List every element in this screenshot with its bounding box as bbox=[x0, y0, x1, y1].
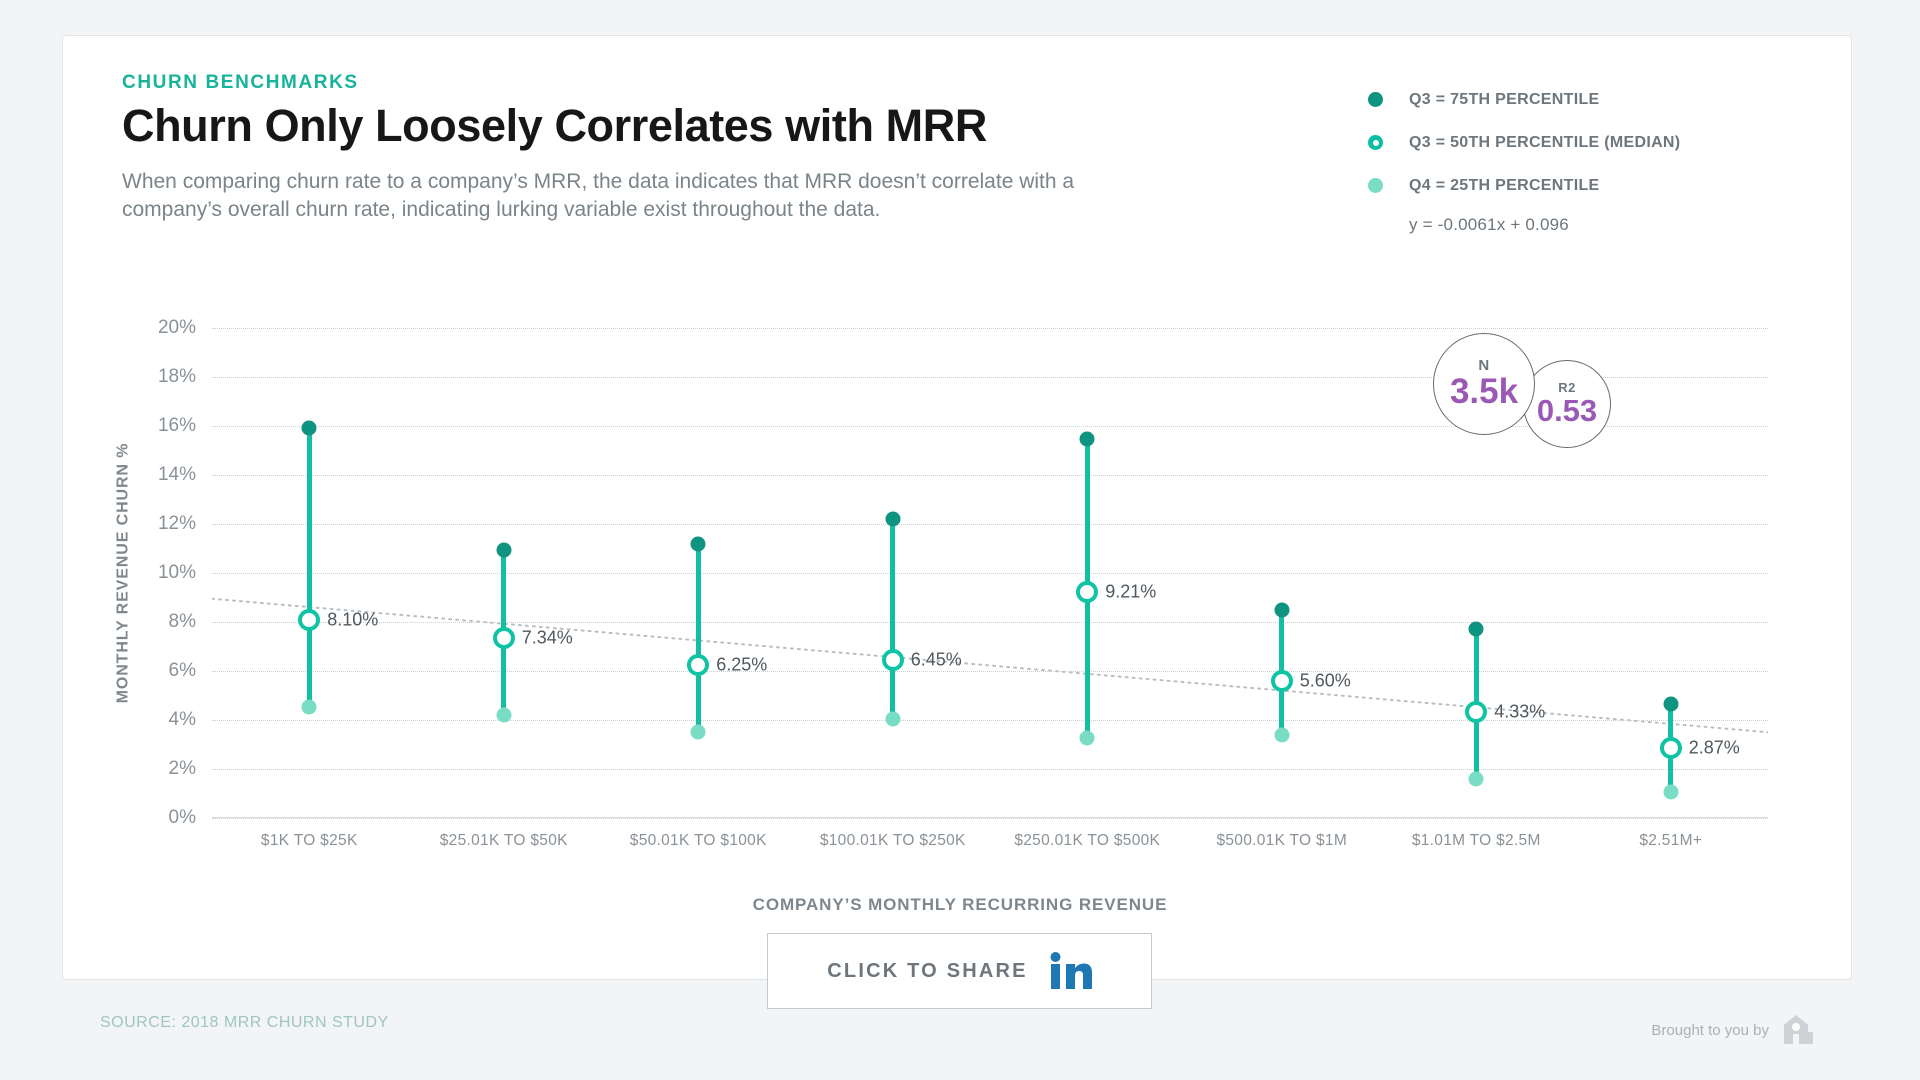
data-point-q1[interactable] bbox=[1663, 785, 1678, 800]
stat-bubble-n-value: 3.5k bbox=[1450, 374, 1518, 411]
data-point-median[interactable] bbox=[687, 654, 709, 676]
x-axis-tick-label: $25.01K TO $50K bbox=[440, 832, 568, 850]
stat-bubble-r2-value: 0.53 bbox=[1537, 395, 1597, 428]
y-axis-tick-label: 16% bbox=[116, 415, 196, 437]
data-point-median[interactable] bbox=[1465, 701, 1487, 723]
data-point-median-label: 6.25% bbox=[716, 654, 767, 675]
y-axis-tick-label: 6% bbox=[116, 660, 196, 682]
y-axis-tick-label: 10% bbox=[116, 562, 196, 584]
legend-marker-solid-light-icon bbox=[1368, 178, 1383, 193]
gridline bbox=[212, 475, 1768, 476]
x-axis-tick-label: $100.01K TO $250K bbox=[820, 832, 966, 850]
legend-item-median: Q3 = 50TH PERCENTILE (MEDIAN) bbox=[1368, 121, 1768, 164]
data-point-q3[interactable] bbox=[496, 542, 511, 557]
legend-item-q4-25: Q4 = 25TH PERCENTILE bbox=[1368, 164, 1768, 207]
x-axis-tick-label: $50.01K TO $100K bbox=[630, 832, 767, 850]
gridline bbox=[212, 622, 1768, 623]
data-point-median-label: 5.60% bbox=[1300, 670, 1351, 691]
y-axis-tick-label: 8% bbox=[116, 611, 196, 633]
data-point-median-label: 7.34% bbox=[522, 628, 573, 649]
share-button[interactable]: CLICK TO SHARE bbox=[767, 933, 1152, 1009]
data-point-median[interactable] bbox=[882, 649, 904, 671]
data-point-median-label: 8.10% bbox=[327, 609, 378, 630]
gridline bbox=[212, 769, 1768, 770]
gridline bbox=[212, 671, 1768, 672]
chart-legend: Q3 = 75TH PERCENTILE Q3 = 50TH PERCENTIL… bbox=[1368, 78, 1768, 235]
gridline bbox=[212, 328, 1768, 329]
x-axis-tick-label: $1K TO $25K bbox=[261, 832, 358, 850]
brought-to-you-by: Brought to you by bbox=[1651, 1014, 1815, 1046]
data-point-median[interactable] bbox=[1076, 581, 1098, 603]
data-point-q1[interactable] bbox=[885, 711, 900, 726]
data-point-q3[interactable] bbox=[1663, 697, 1678, 712]
page-title: Churn Only Loosely Correlates with MRR bbox=[122, 100, 987, 152]
legend-marker-solid-dark-icon bbox=[1368, 92, 1383, 107]
x-axis-tick-label: $250.01K TO $500K bbox=[1014, 832, 1160, 850]
y-axis-tick-label: 4% bbox=[116, 709, 196, 731]
data-point-q3[interactable] bbox=[691, 536, 706, 551]
trendline-equation: y = -0.0061x + 0.096 bbox=[1409, 215, 1768, 235]
x-axis-tick-label: $2.51M+ bbox=[1639, 832, 1702, 850]
gridline bbox=[212, 818, 1768, 819]
data-point-median-label: 2.87% bbox=[1689, 737, 1740, 758]
legend-marker-ring-icon bbox=[1368, 135, 1383, 150]
linkedin-icon bbox=[1050, 952, 1092, 990]
y-axis-tick-label: 18% bbox=[116, 366, 196, 388]
gridline bbox=[212, 573, 1768, 574]
brand-logo-icon bbox=[1781, 1014, 1815, 1046]
x-axis-title: COMPANY’S MONTHLY RECURRING REVENUE bbox=[0, 895, 1920, 915]
eyebrow-label: CHURN BENCHMARKS bbox=[122, 72, 359, 94]
data-point-q1[interactable] bbox=[1274, 727, 1289, 742]
data-point-q3[interactable] bbox=[1469, 622, 1484, 637]
data-point-q1[interactable] bbox=[691, 725, 706, 740]
data-point-q3[interactable] bbox=[302, 421, 317, 436]
y-axis-tick-label: 12% bbox=[116, 513, 196, 535]
y-axis-tick-label: 0% bbox=[116, 807, 196, 829]
data-point-q1[interactable] bbox=[1080, 731, 1095, 746]
gridline bbox=[212, 524, 1768, 525]
share-button-label: CLICK TO SHARE bbox=[827, 960, 1027, 983]
data-point-median[interactable] bbox=[298, 609, 320, 631]
source-label: SOURCE: 2018 MRR CHURN STUDY bbox=[100, 1014, 389, 1032]
y-axis-tick-label: 20% bbox=[116, 317, 196, 339]
data-point-median[interactable] bbox=[1271, 670, 1293, 692]
data-point-median-label: 6.45% bbox=[911, 649, 962, 670]
y-axis-tick-label: 14% bbox=[116, 464, 196, 486]
stat-bubble-n: N 3.5k bbox=[1433, 333, 1535, 435]
data-point-q3[interactable] bbox=[1274, 602, 1289, 617]
data-point-median[interactable] bbox=[1660, 737, 1682, 759]
data-point-q3[interactable] bbox=[1080, 432, 1095, 447]
data-point-median-label: 9.21% bbox=[1105, 582, 1156, 603]
y-axis-tick-label: 2% bbox=[116, 758, 196, 780]
data-point-median[interactable] bbox=[493, 627, 515, 649]
range-stem bbox=[890, 519, 895, 719]
x-axis-tick-label: $500.01K TO $1M bbox=[1216, 832, 1347, 850]
stat-bubble-r2: R2 0.53 bbox=[1523, 360, 1611, 448]
data-point-median-label: 4.33% bbox=[1494, 701, 1545, 722]
data-point-q1[interactable] bbox=[1469, 771, 1484, 786]
data-point-q1[interactable] bbox=[496, 708, 511, 723]
infographic-page: CHURN BENCHMARKS Churn Only Loosely Corr… bbox=[0, 0, 1920, 1080]
legend-label-median: Q3 = 50TH PERCENTILE (MEDIAN) bbox=[1409, 134, 1680, 152]
range-stem bbox=[696, 544, 701, 733]
legend-label-q4-25: Q4 = 25TH PERCENTILE bbox=[1409, 177, 1600, 195]
legend-item-q3-75: Q3 = 75TH PERCENTILE bbox=[1368, 78, 1768, 121]
x-axis-tick-label: $1.01M TO $2.5M bbox=[1412, 832, 1541, 850]
data-point-q3[interactable] bbox=[885, 512, 900, 527]
range-stem bbox=[307, 428, 312, 706]
data-point-q1[interactable] bbox=[302, 699, 317, 714]
subtitle-text: When comparing churn rate to a company’s… bbox=[122, 168, 1142, 223]
brought-to-you-by-text: Brought to you by bbox=[1651, 1022, 1769, 1039]
legend-label-q3-75: Q3 = 75TH PERCENTILE bbox=[1409, 91, 1600, 109]
